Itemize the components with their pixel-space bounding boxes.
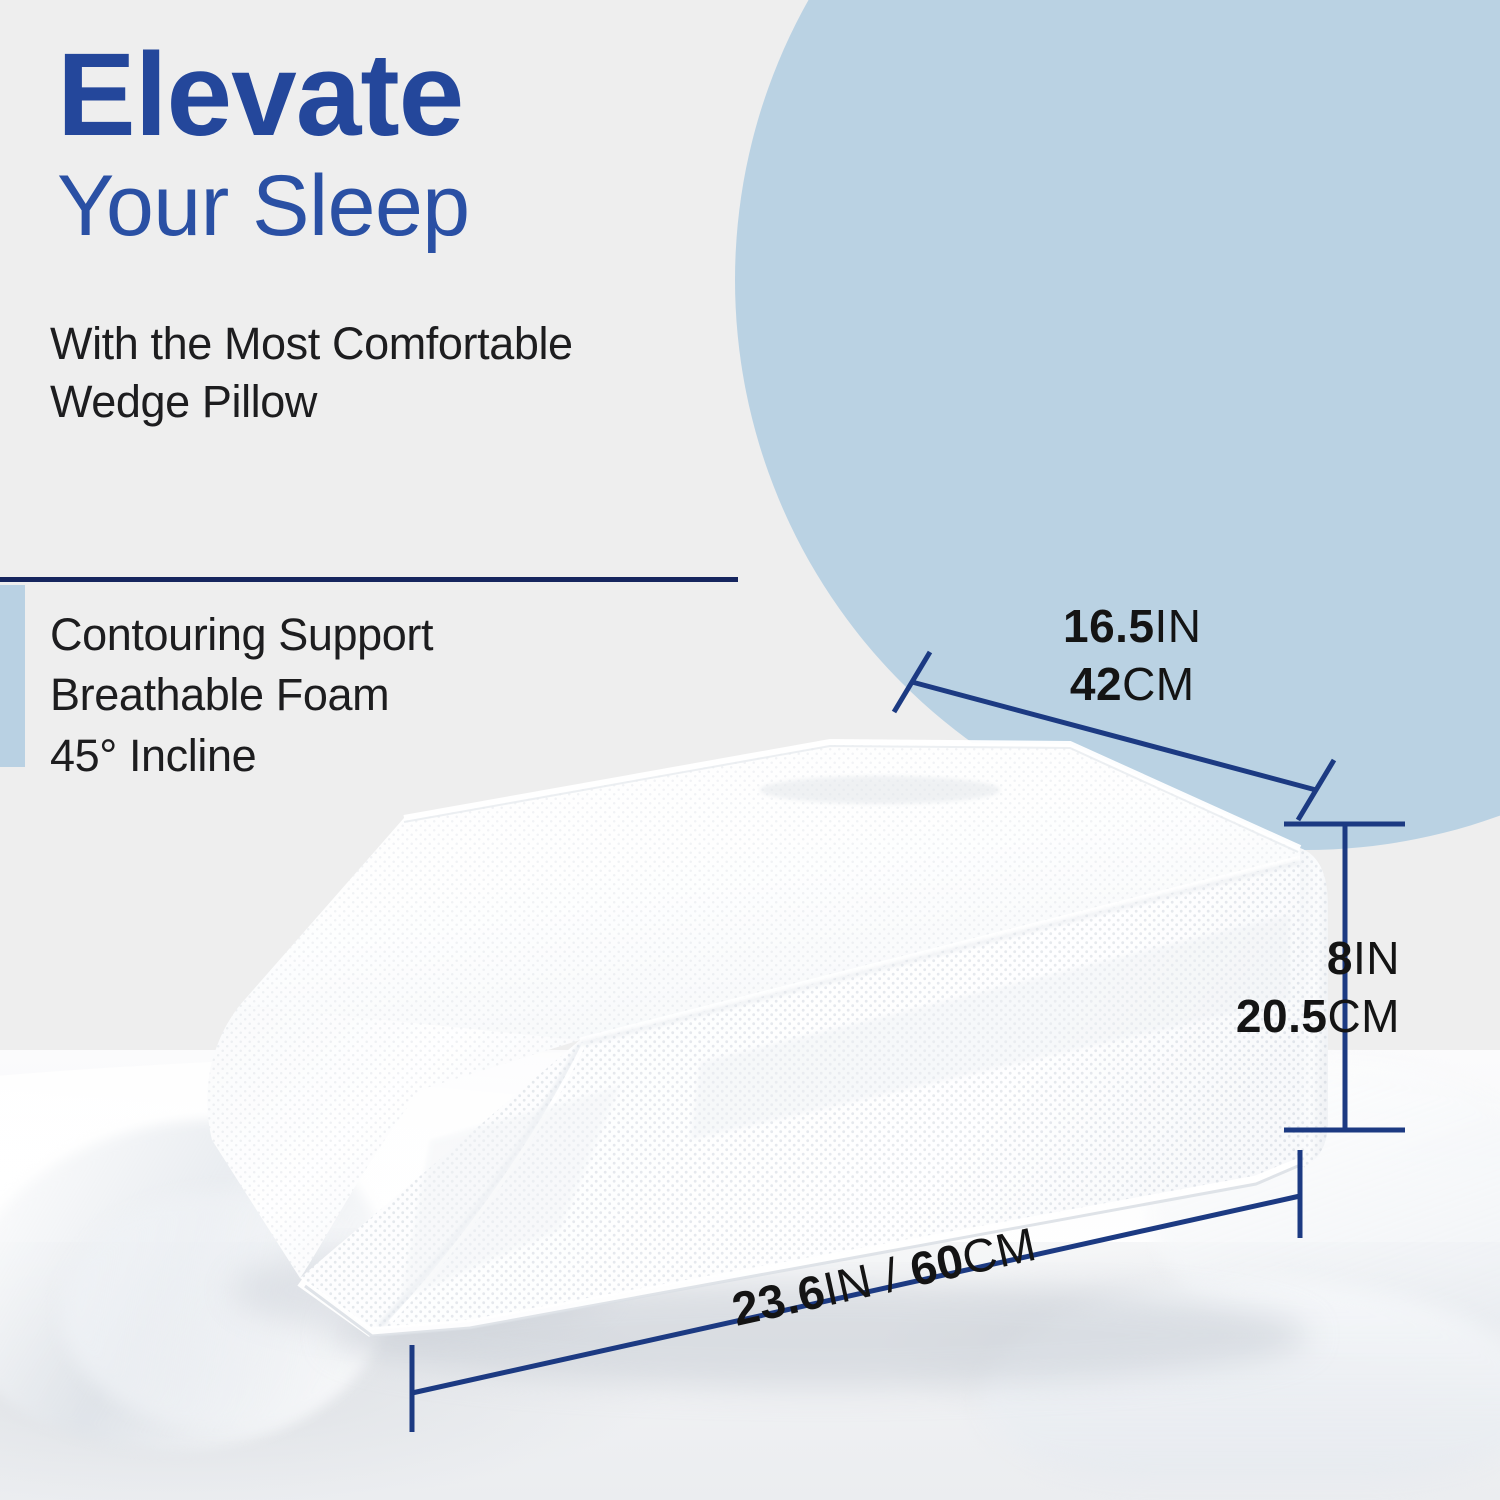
subheadline-line-1: With the Most Comfortable: [50, 315, 810, 373]
headline-primary: Elevate: [57, 38, 777, 154]
headline-secondary: Your Sleep: [57, 160, 777, 253]
height-label-inches: 8IN: [1228, 930, 1400, 988]
depth-label-cm: 42CM: [1063, 656, 1202, 714]
height-dimension-label: 8IN 20.5CM: [1228, 930, 1400, 1046]
feature-list: Contouring Support Breathable Foam 45° I…: [50, 605, 750, 786]
section-divider: [0, 577, 738, 582]
feature-item-1: Contouring Support: [50, 605, 750, 665]
subheadline-line-2: Wedge Pillow: [50, 373, 810, 431]
feature-item-3: 45° Incline: [50, 726, 750, 786]
depth-label-inches: 16.5IN: [1063, 598, 1202, 656]
infographic-canvas: Elevate Your Sleep With the Most Comfort…: [0, 0, 1500, 1500]
headline-block: Elevate Your Sleep: [57, 38, 777, 253]
feature-accent-bar: [0, 585, 25, 767]
feature-item-2: Breathable Foam: [50, 665, 750, 725]
depth-dimension-label: 16.5IN 42CM: [1063, 598, 1202, 714]
depth-tick-right: [1298, 760, 1334, 820]
depth-tick-left: [894, 652, 930, 712]
height-label-cm: 20.5CM: [1228, 988, 1400, 1046]
subheadline-block: With the Most Comfortable Wedge Pillow: [50, 315, 810, 430]
